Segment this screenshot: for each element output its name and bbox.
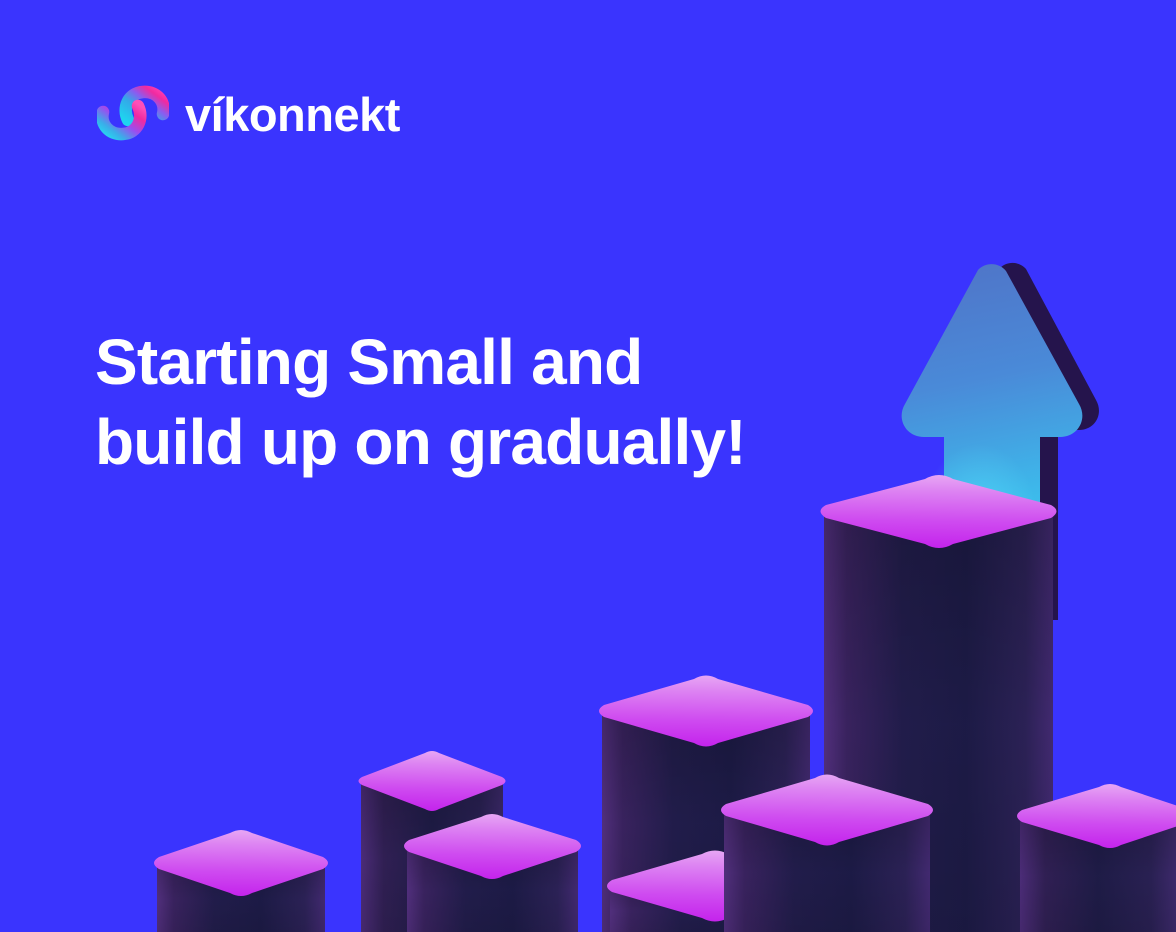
- headline: Starting Small and build up on gradually…: [95, 322, 746, 482]
- spiral-swirl-icon: [97, 80, 169, 146]
- headline-line-1: Starting Small and: [95, 322, 746, 402]
- brand-wordmark: víkonnekt: [185, 91, 400, 138]
- poster-canvas: víkonnekt Starting Small and build up on…: [0, 0, 1176, 932]
- bar-7: [1017, 784, 1176, 932]
- brand-logo[interactable]: víkonnekt: [97, 80, 400, 146]
- headline-line-2: build up on gradually!: [95, 402, 746, 482]
- bar-5: [721, 775, 933, 932]
